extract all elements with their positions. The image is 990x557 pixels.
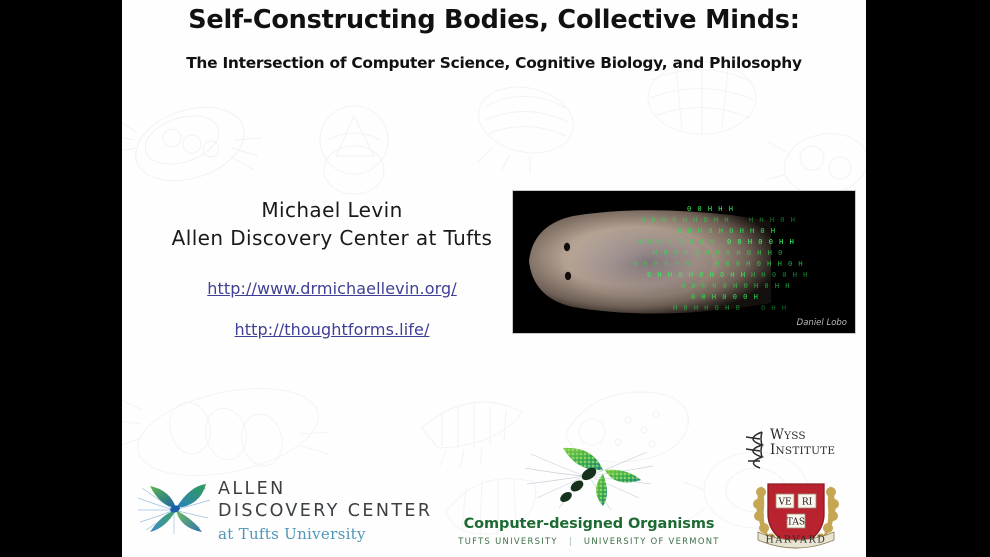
allen-line-3: at Tufts University bbox=[218, 525, 432, 543]
xenobot-icon bbox=[519, 440, 659, 514]
allen-line-1: ALLEN bbox=[218, 478, 432, 500]
background-watermark bbox=[122, 86, 272, 206]
slide-viewer: Self-Constructing Bodies, Collective Min… bbox=[0, 0, 990, 557]
wyss-line-2: INSTITUTE bbox=[770, 443, 835, 458]
cdo-title: Computer-designed Organisms bbox=[444, 516, 734, 532]
planarian-image-panel: 0 0 H H H H 0 H 0 H H 0 H H H H H 0 H 0 … bbox=[512, 190, 856, 334]
fluorescent-code-overlay: 0 0 H H H H 0 H 0 H H 0 H H H H H 0 H 0 … bbox=[631, 205, 849, 325]
author-block: Michael Levin Allen Discovery Center at … bbox=[142, 196, 522, 361]
link-drmichaellevin[interactable]: http://www.drmichaellevin.org/ bbox=[142, 279, 522, 298]
harvard-logo: VE RI TAS HARVARD bbox=[748, 470, 844, 556]
harvard-shield-icon: VE RI TAS HARVARD bbox=[748, 470, 844, 556]
title-block: Self-Constructing Bodies, Collective Min… bbox=[122, 6, 866, 72]
computer-designed-organisms-logo: Computer-designed Organisms TUFTS UNIVER… bbox=[444, 440, 734, 552]
allen-discovery-center-logo: ALLEN DISCOVERY CENTER at Tufts Universi… bbox=[130, 470, 435, 550]
svg-text:TAS: TAS bbox=[787, 518, 805, 528]
author-name: Michael Levin bbox=[142, 196, 522, 224]
dna-helix-icon bbox=[742, 430, 766, 470]
svg-text:VE: VE bbox=[777, 498, 791, 508]
cdo-separator: | bbox=[569, 536, 573, 546]
background-watermark bbox=[452, 70, 602, 180]
presentation-slide: Self-Constructing Bodies, Collective Min… bbox=[122, 0, 866, 557]
wyss-institute-logo: WYSS INSTITUTE bbox=[742, 428, 862, 474]
background-watermark bbox=[292, 96, 422, 206]
image-credit: Daniel Lobo bbox=[797, 318, 847, 328]
link-thoughtforms[interactable]: http://thoughtforms.life/ bbox=[142, 320, 522, 339]
wyss-line-1: WYSS bbox=[770, 428, 835, 443]
page-subtitle: The Intersection of Computer Science, Co… bbox=[122, 54, 866, 72]
svg-text:HARVARD: HARVARD bbox=[765, 535, 826, 546]
allen-logo-text: ALLEN DISCOVERY CENTER at Tufts Universi… bbox=[218, 478, 432, 543]
page-title: Self-Constructing Bodies, Collective Min… bbox=[122, 6, 866, 35]
cdo-partners: TUFTS UNIVERSITY | UNIVERSITY OF VERMONT bbox=[444, 536, 734, 546]
allen-line-2: DISCOVERY CENTER bbox=[218, 500, 432, 522]
link-list: http://www.drmichaellevin.org/ http://th… bbox=[142, 279, 522, 339]
wyss-logo-text: WYSS INSTITUTE bbox=[770, 428, 835, 457]
svg-text:RI: RI bbox=[802, 498, 813, 508]
cdo-partner-1: TUFTS UNIVERSITY bbox=[458, 536, 558, 546]
cdo-partner-2: UNIVERSITY OF VERMONT bbox=[584, 536, 720, 546]
bird-icon bbox=[136, 476, 212, 538]
author-affiliation: Allen Discovery Center at Tufts bbox=[142, 224, 522, 252]
